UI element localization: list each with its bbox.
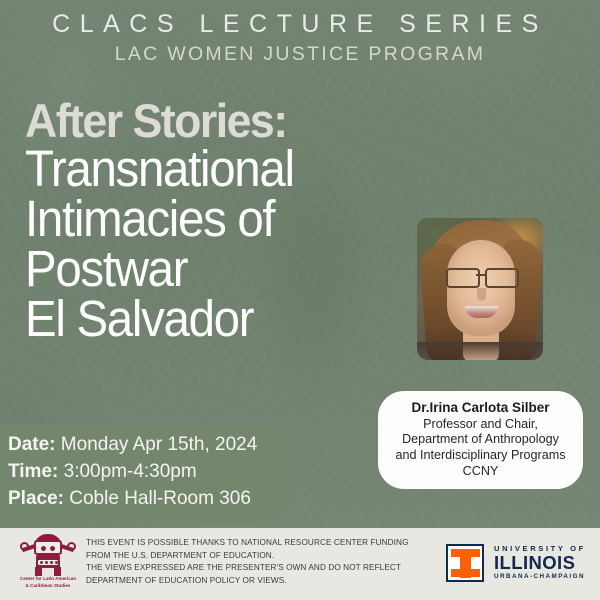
photo-shirt — [417, 342, 543, 360]
event-poster: CLACS LECTURE SERIES LAC WOMEN JUSTICE P… — [0, 0, 600, 600]
page-title: After Stories: Transnational Intimacies … — [25, 98, 425, 344]
date-label: Date: — [8, 434, 56, 455]
illinois-line-illinois: ILLINOIS — [494, 553, 586, 572]
funding-disclaimer: THIS EVENT IS POSSIBLE THANKS TO NATIONA… — [86, 537, 431, 588]
title-line-5: El Salvador — [25, 294, 397, 344]
clacs-figure-hand-right — [67, 542, 76, 551]
clacs-logo-caption: Center for Latin American & Caribbean St… — [16, 576, 80, 590]
place-label: Place: — [8, 488, 64, 509]
clacs-belt-dot — [40, 561, 43, 564]
time-label: Time: — [8, 461, 58, 482]
speaker-info-card: Dr.Irina Carlota Silber Professor and Ch… — [378, 391, 583, 489]
clacs-figure-icon — [22, 534, 74, 576]
clacs-figure-eye-left — [41, 546, 46, 551]
time-value: 3:00pm-4:30pm — [64, 461, 197, 482]
detail-row: Date: Monday Apr 15th, 2024 — [8, 432, 292, 459]
date-value: Monday Apr 15th, 2024 — [61, 434, 257, 455]
speaker-name: Dr.Irina Carlota Silber — [384, 399, 577, 417]
title-line-4: Postwar — [25, 244, 397, 294]
poster-footer: Center for Latin American & Caribbean St… — [0, 528, 600, 600]
clacs-figure-leg-left — [35, 567, 42, 576]
place-value: Coble Hall-Room 306 — [69, 488, 251, 509]
program-subtitle: LAC WOMEN JUSTICE PROGRAM — [0, 42, 600, 66]
illinois-line-urbana-champaign: URBANA-CHAMPAIGN — [494, 573, 586, 581]
clacs-figure-belt — [38, 560, 58, 565]
clacs-figure-hand-left — [20, 542, 29, 551]
illinois-block-i-icon — [446, 544, 484, 582]
lecture-series-title: CLACS LECTURE SERIES — [0, 10, 600, 40]
illinois-block-i-stem — [460, 549, 471, 578]
speaker-affiliation: Professor and Chair, Department of Anthr… — [384, 417, 577, 480]
university-of-illinois-logo: UNIVERSITY OF ILLINOIS URBANA-CHAMPAIGN — [446, 542, 586, 584]
clacs-figure-leg-right — [54, 567, 61, 576]
clacs-logo: Center for Latin American & Caribbean St… — [16, 532, 80, 594]
title-line-1: After Stories: — [25, 98, 405, 144]
photo-lens-right — [485, 268, 519, 288]
poster-header: CLACS LECTURE SERIES LAC WOMEN JUSTICE P… — [0, 10, 600, 66]
clacs-figure-eye-right — [50, 546, 55, 551]
illinois-wordmark: UNIVERSITY OF ILLINOIS URBANA-CHAMPAIGN — [494, 544, 586, 581]
title-line-2: Transnational — [25, 144, 397, 194]
eyeglasses-icon — [444, 268, 518, 285]
detail-row: Time: 3:00pm-4:30pm — [8, 459, 292, 486]
clacs-belt-dot — [50, 561, 53, 564]
title-line-3: Intimacies of — [25, 194, 397, 244]
clacs-belt-dot — [45, 561, 48, 564]
event-details-panel: Date: Monday Apr 15th, 2024 Time: 3:00pm… — [0, 424, 292, 523]
clacs-figure-head — [34, 540, 62, 555]
clacs-belt-dot — [55, 561, 58, 564]
speaker-photo — [417, 218, 543, 360]
photo-nose — [477, 288, 486, 301]
photo-lens-left — [446, 268, 480, 288]
detail-row: Place: Coble Hall-Room 306 — [8, 486, 292, 513]
